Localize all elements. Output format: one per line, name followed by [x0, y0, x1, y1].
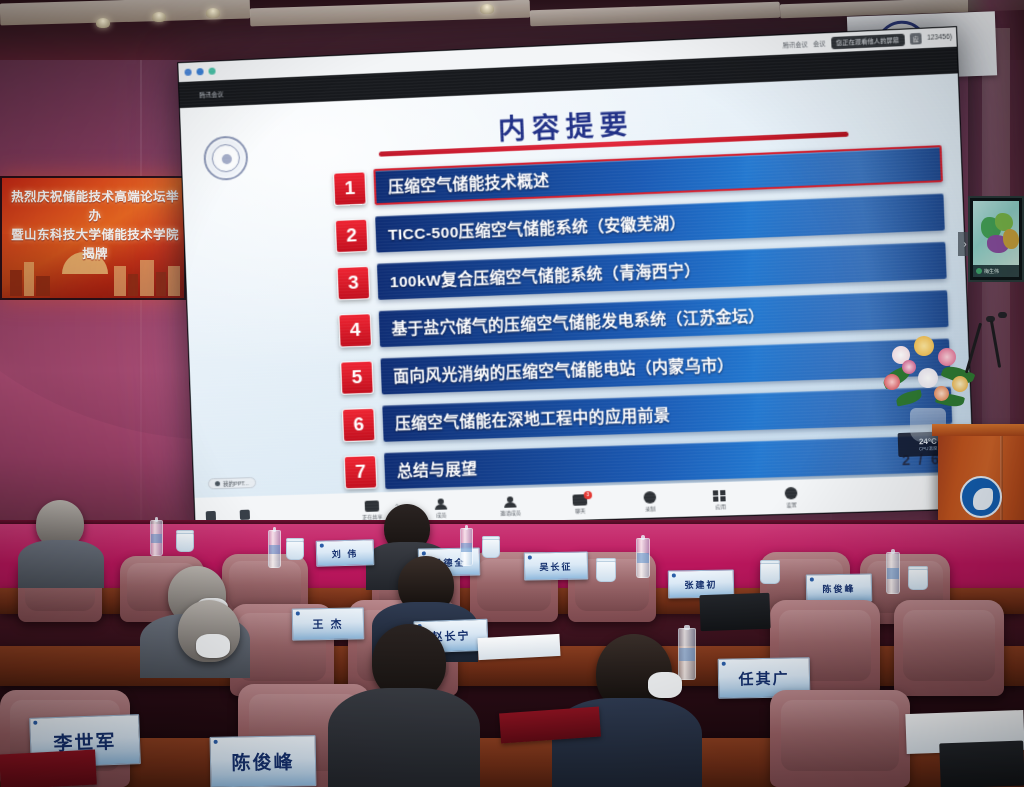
- placard-logo-icon: [810, 577, 814, 581]
- presentation-slide: 内容提要 1 压缩空气储能技术概述 2 TICC-500压缩空气储能系统（安徽芜…: [180, 73, 975, 498]
- banner-line-1: 热烈庆祝储能技术高端论坛举办: [8, 188, 182, 226]
- ceiling-spotlight: [96, 18, 110, 28]
- ceiling-spotlight: [152, 12, 166, 22]
- toolbar-item-record[interactable]: 录制: [629, 491, 671, 514]
- toolbar-label: 录制: [630, 505, 672, 513]
- list-item-label: TICC-500压缩空气储能系统（安徽芜湖）: [388, 211, 687, 245]
- toolbar-label: 设置: [770, 501, 812, 509]
- podium-university-emblem-icon: [960, 476, 1002, 518]
- slide-status-label: 我的PPT...: [223, 479, 249, 488]
- banner-line-2: 暨山东科技大学储能技术学院揭牌: [8, 226, 182, 264]
- tea-cup: [908, 568, 928, 590]
- placard-logo-icon: [672, 573, 676, 577]
- tea-cup: [760, 562, 780, 584]
- meeting-app-label: 腾讯会议: [199, 89, 223, 99]
- laptop: [939, 741, 1024, 787]
- toolbar-label: 应用: [700, 502, 742, 510]
- name-placard: 王 杰: [292, 607, 365, 640]
- placard-logo-icon: [528, 555, 532, 559]
- face-mask: [648, 672, 682, 698]
- participants-icon: [434, 498, 449, 510]
- led-banner: 热烈庆祝储能技术高端论坛举办 暨山东科技大学储能技术学院揭牌: [0, 176, 186, 300]
- chair: [894, 600, 1004, 696]
- gear-icon: [785, 487, 798, 500]
- placard-logo-icon: [422, 551, 426, 555]
- list-item-number: 4: [338, 313, 372, 347]
- screen-share-status-pill: 您正在观看他人的屏幕: [831, 33, 905, 49]
- laptop: [699, 593, 770, 631]
- ceiling-spotlight: [480, 4, 494, 14]
- projection-screen: 腾讯会议 会议 您正在观看他人的屏幕 应 123456) 腾讯会议 内容提要 1…: [177, 26, 975, 532]
- placard-logo-icon: [320, 544, 324, 548]
- attendee-shoulders: [18, 540, 104, 588]
- toolbar-label: 聊天: [560, 506, 601, 514]
- mic-status-icon: [976, 268, 982, 274]
- record-icon: [643, 491, 656, 504]
- toolbar-label: 邀请成员: [490, 509, 531, 517]
- app-sub-label: 会议: [813, 38, 826, 48]
- tea-cup: [596, 560, 616, 582]
- attendee-shoulders: [328, 688, 480, 787]
- slide-status-pill[interactable]: 我的PPT...: [208, 477, 256, 489]
- apps-grid-icon: [713, 490, 728, 502]
- pill-dot-icon: [215, 481, 220, 486]
- chair: [770, 690, 910, 787]
- name-placard: 吴长征: [524, 551, 588, 580]
- toolbar-item-settings[interactable]: 设置: [770, 486, 813, 509]
- water-bottle: [460, 528, 473, 566]
- video-name-bar: 梅生伟: [973, 265, 1019, 277]
- speaker-name-label: 梅生伟: [984, 268, 999, 275]
- chat-unread-badge: 3: [584, 490, 593, 498]
- placard-logo-icon: [33, 721, 37, 725]
- placard-name: 王 杰: [312, 616, 343, 633]
- microphone-head-icon: [998, 312, 1007, 318]
- list-item-label: 总结与展望: [397, 457, 478, 482]
- placard-logo-icon: [214, 740, 218, 744]
- banner-text: 热烈庆祝储能技术高端论坛举办 暨山东科技大学储能技术学院揭牌: [8, 188, 182, 264]
- toolbar-item-apps[interactable]: 应用: [699, 489, 741, 511]
- list-item-label: 面向风光消纳的压缩空气储能电站（内蒙乌市）: [393, 353, 734, 387]
- tea-cup: [286, 540, 304, 560]
- slide-outline-list: 1 压缩空气储能技术概述 2 TICC-500压缩空气储能系统（安徽芜湖） 3 …: [333, 142, 955, 498]
- list-item-number: 3: [337, 266, 371, 300]
- meeting-id-label: 123456): [927, 34, 952, 42]
- placard-logo-icon: [722, 662, 726, 666]
- list-item-number: 1: [333, 171, 367, 206]
- window-dot-icon[interactable]: [196, 68, 203, 75]
- placard-name: 吴长征: [539, 559, 572, 573]
- temperature-sub-label: CPU温度: [919, 445, 938, 452]
- placard-name: 任其广: [738, 667, 789, 689]
- list-item-number: 6: [342, 408, 376, 442]
- water-bottle: [678, 628, 696, 680]
- name-placard: 陈俊峰: [210, 735, 317, 787]
- name-placard: 刘 伟: [316, 539, 375, 567]
- placard-logo-icon: [296, 611, 300, 615]
- water-bottle: [886, 552, 900, 594]
- app-name-label: 腾讯会议: [783, 39, 808, 49]
- conference-hall-scene: 热烈庆祝储能技术高端论坛举办 暨山东科技大学储能技术学院揭牌 QINGDAO U…: [0, 0, 1024, 787]
- list-item-label: 基于盐穴储气的压缩空气储能发电系统（江苏金坛）: [391, 304, 765, 340]
- placard-name: 刘 伟: [332, 546, 359, 560]
- water-bottle: [150, 520, 163, 556]
- placard-name: 陈俊峰: [231, 747, 294, 775]
- list-item-label: 压缩空气储能技术概述: [388, 169, 550, 198]
- water-bottle: [636, 538, 650, 578]
- ceiling-spotlight: [206, 8, 220, 18]
- list-item-number: 2: [335, 219, 369, 253]
- toolbar-item-chat[interactable]: 3 聊天: [559, 493, 601, 514]
- window-dot-icon[interactable]: [208, 67, 215, 74]
- placard-name: 陈俊峰: [822, 581, 855, 595]
- list-item-number: 7: [344, 455, 378, 489]
- list-item-label: 100kW复合压缩空气储能系统（青海西宁）: [389, 258, 701, 292]
- name-placard: 陈俊峰: [806, 573, 872, 602]
- face-mask: [196, 634, 230, 658]
- tea-cup: [482, 538, 500, 558]
- tea-cup: [176, 532, 194, 552]
- water-bottle: [268, 530, 281, 568]
- list-item-label: 压缩空气储能在深地工程中的应用前景: [395, 403, 671, 434]
- placard-name: 张建初: [684, 577, 717, 591]
- document-sheet: [477, 634, 560, 660]
- window-dot-icon[interactable]: [184, 69, 191, 76]
- podium-top-surface: [932, 424, 1024, 436]
- person-icon: [503, 496, 518, 508]
- toolbar-item-invite[interactable]: 邀请成员: [490, 495, 532, 516]
- side-video-monitor[interactable]: 梅生伟: [968, 196, 1024, 282]
- video-icon: [240, 509, 250, 519]
- list-item-number: 5: [340, 361, 374, 395]
- red-folder: [0, 750, 97, 787]
- status-chip[interactable]: 应: [909, 33, 922, 45]
